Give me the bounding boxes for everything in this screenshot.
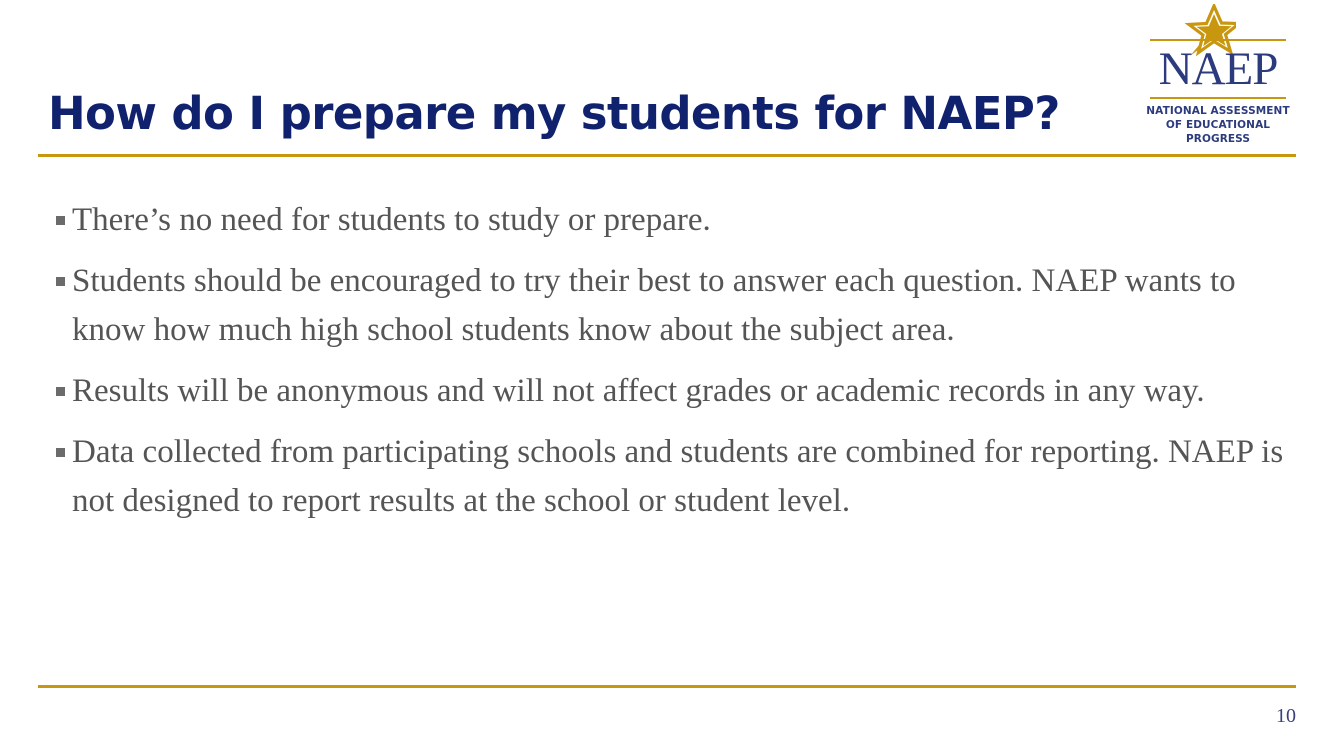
naep-logo: NAEP NATIONAL ASSESSMENT OF EDUCATIONAL …: [1146, 4, 1290, 142]
logo-wordmark: NAEP: [1146, 46, 1290, 93]
list-item: Data collected from participating school…: [50, 428, 1298, 526]
square-bullet-icon: [56, 448, 65, 457]
divider-top: [38, 154, 1296, 157]
logo-caption-line-3: PROGRESS: [1146, 132, 1290, 146]
list-item: There’s no need for students to study or…: [50, 196, 1298, 245]
list-item-text: There’s no need for students to study or…: [72, 196, 1298, 245]
list-item: Results will be anonymous and will not a…: [50, 367, 1298, 416]
square-bullet-icon: [56, 387, 65, 396]
square-bullet-icon: [56, 216, 65, 225]
divider-bottom: [38, 685, 1296, 688]
list-item-text: Results will be anonymous and will not a…: [72, 367, 1298, 416]
list-item-text: Data collected from participating school…: [72, 428, 1298, 526]
logo-caption: NATIONAL ASSESSMENT OF EDUCATIONAL PROGR…: [1146, 104, 1290, 146]
list-item-text: Students should be encouraged to try the…: [72, 257, 1298, 355]
list-item: Students should be encouraged to try the…: [50, 257, 1298, 355]
logo-bottom-rule: [1150, 97, 1286, 99]
logo-caption-line-1: NATIONAL ASSESSMENT: [1146, 104, 1290, 118]
square-bullet-icon: [56, 277, 65, 286]
page-number: 10: [1276, 705, 1296, 728]
slide: How do I prepare my students for NAEP? N…: [0, 0, 1338, 746]
bullet-list: There’s no need for students to study or…: [50, 196, 1298, 526]
logo-caption-line-2: OF EDUCATIONAL: [1146, 118, 1290, 132]
page-title: How do I prepare my students for NAEP?: [48, 85, 1128, 143]
